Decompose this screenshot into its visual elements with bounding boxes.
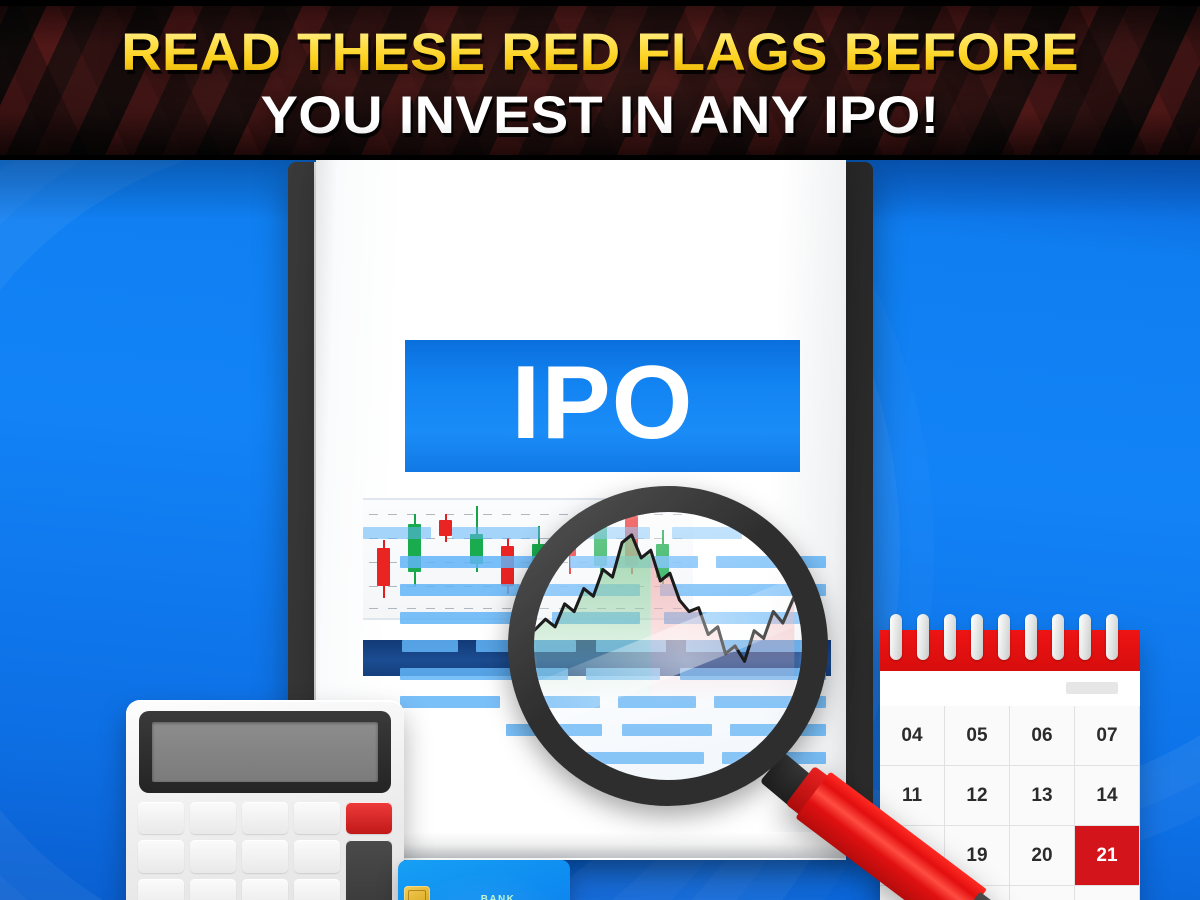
calendar-day-empty [1075,886,1140,900]
calendar-spiral-ring [1052,614,1064,660]
card-bank-label: BANK [398,894,570,900]
headline-banner: READ THESE RED FLAGS BEFORE YOU INVEST I… [0,0,1200,160]
candle-body [377,548,390,586]
calculator-screen-bezel [139,711,391,793]
calendar-spiral-ring [890,614,902,660]
banner-top-edge [0,0,1200,6]
calendar-day-13[interactable]: 13 [1010,766,1075,826]
magnifying-glass-icon [508,486,828,806]
calendar-day-21[interactable]: 21 [1075,826,1140,886]
candle-body [439,520,452,536]
calendar-spiral-ring [917,614,929,660]
ipo-title-text: IPO [405,337,800,469]
calendar-day-12[interactable]: 12 [945,766,1010,826]
calendar-spiral-ring [944,614,956,660]
calendar-day-06[interactable]: 06 [1010,706,1075,766]
calculator-key[interactable] [294,802,340,834]
calculator-key[interactable] [294,840,340,872]
calculator-key[interactable] [242,840,288,872]
candle-1 [377,500,390,622]
ipo-title-banner: IPO [405,340,800,472]
calculator-key-clear[interactable] [346,802,392,834]
calendar-day-07[interactable]: 07 [1075,706,1140,766]
document-text-line [402,640,458,652]
headline-line-2-text: YOU INVEST IN ANY IPO! [261,86,940,145]
calendar-day-28[interactable]: 28 [1010,886,1075,900]
calculator-key[interactable] [190,802,236,834]
calendar-day-20[interactable]: 20 [1010,826,1075,886]
headline-line-1-text: READ THESE RED FLAGS BEFORE [121,23,1079,82]
calculator-key[interactable] [138,879,184,900]
calculator-key[interactable] [190,879,236,900]
magnifier-rim [508,486,828,806]
credit-card: BANK 0000 0000 0000 0000 00 / 00 [398,860,570,900]
illustration-scene: IPO BANK 0000 0000 0000 0000 [0,160,1200,900]
headline-line-1: READ THESE RED FLAGS BEFORE [0,24,1200,82]
calendar-day-14[interactable]: 14 [1075,766,1140,826]
calculator-key[interactable] [138,802,184,834]
calendar-spiral-ring [1106,614,1118,660]
calculator-key[interactable] [190,840,236,872]
calendar-spiral-ring [998,614,1010,660]
calculator[interactable] [126,700,404,900]
calendar-spiral-ring [1079,614,1091,660]
poster-canvas: READ THESE RED FLAGS BEFORE YOU INVEST I… [0,0,1200,900]
calculator-key[interactable] [242,802,288,834]
document-text-line [400,696,500,708]
calendar-spiral-ring [971,614,983,660]
calculator-key-equals[interactable] [346,840,392,900]
calculator-display [152,722,378,782]
calculator-key[interactable] [242,879,288,900]
calculator-keypad[interactable] [138,802,392,900]
headline-line-2: YOU INVEST IN ANY IPO! [0,87,1200,145]
calendar-day-04[interactable]: 04 [880,706,945,766]
calendar-month-placeholder [1066,682,1118,694]
document-text-line [363,527,431,539]
document-text-line [400,584,520,596]
calendar-day-05[interactable]: 05 [945,706,1010,766]
calendar-spiral-rings [880,614,1140,660]
calculator-key[interactable] [138,840,184,872]
calendar-spiral-ring [1025,614,1037,660]
calculator-key[interactable] [294,879,340,900]
